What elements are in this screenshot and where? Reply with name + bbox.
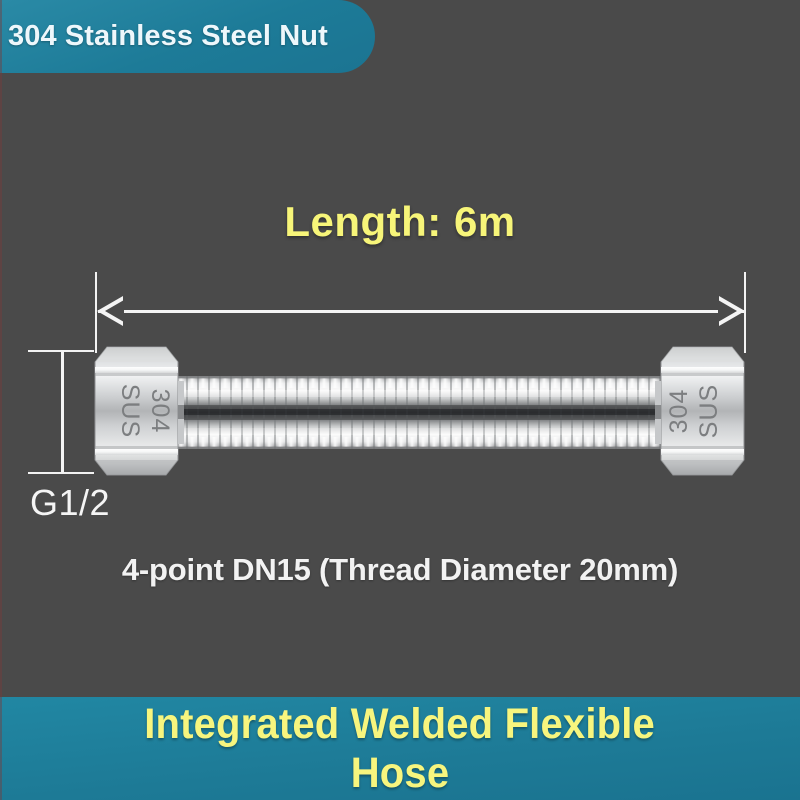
arrow-right-icon [719, 296, 745, 326]
thread-size-label: G1/2 [30, 482, 110, 524]
banner-line-2: Hose [351, 749, 450, 798]
nut-marking-sus-right: SUS [695, 384, 723, 438]
length-label: Length: 6m [0, 198, 800, 246]
arrow-left-icon [97, 296, 123, 326]
right-hex-nut: SUS 304 [655, 347, 744, 475]
corrugated-hose-body [172, 376, 664, 449]
banner-line-1: Integrated Welded Flexible [145, 700, 656, 749]
left-hex-nut: SUS 304 [95, 347, 184, 475]
product-image-stage: 304 Stainless Steel Nut Length: 6m G1/2 [0, 0, 800, 800]
badge-label: 304 Stainless Steel Nut [0, 20, 328, 53]
product-caption: 4-point DN15 (Thread Diameter 20mm) [0, 552, 800, 588]
dimension-line-vertical [61, 352, 64, 473]
nut-marking-304-right: 304 [665, 389, 693, 434]
nut-marking-sus-left: SUS [116, 384, 144, 438]
left-edge-artifact [0, 0, 2, 800]
dimension-line-horizontal [98, 310, 744, 313]
nut-marking-304-left: 304 [146, 389, 174, 434]
flexible-hose-product-illustration: SUS 304 SUS 304 [0, 0, 800, 800]
product-badge: 304 Stainless Steel Nut [0, 0, 375, 73]
bottom-banner: Integrated Welded Flexible Hose [0, 697, 800, 800]
